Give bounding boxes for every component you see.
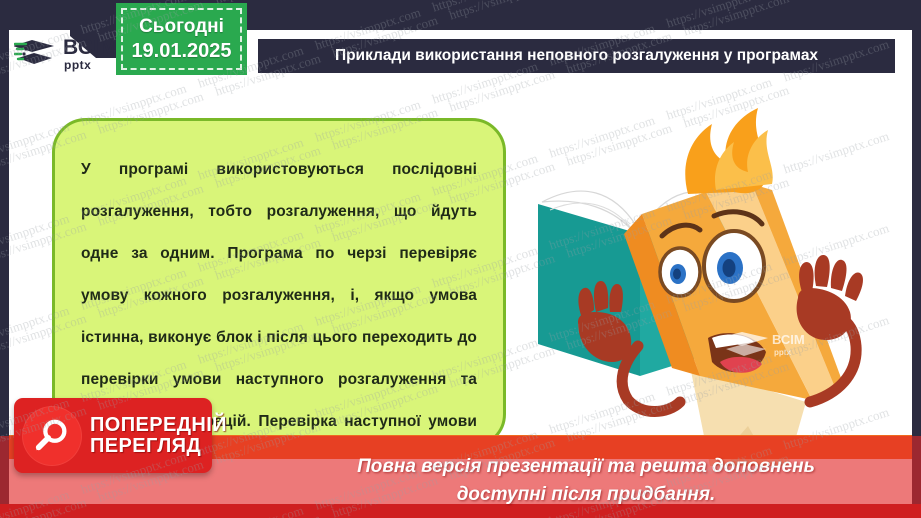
preview-badge-line1: ПОПЕРЕДНІЙ [90, 415, 227, 435]
purchase-notice: Повна версія презентації та решта доповн… [268, 453, 904, 509]
purchase-notice-line2: доступні після придбання. [268, 481, 904, 509]
brand-logo: ВСІМ pptx [14, 30, 126, 78]
purchase-notice-line1: Повна версія презентації та решта доповн… [268, 453, 904, 481]
graduation-cap-icon [14, 37, 58, 71]
preview-badge[interactable]: ПОПЕРЕДНІЙ ПЕРЕГЛЯД [14, 398, 212, 473]
logo-title: ВСІМ [63, 37, 118, 58]
date-badge: Сьогодні 19.01.2025 [116, 3, 247, 75]
preview-badge-line2: ПЕРЕГЛЯД [90, 436, 227, 456]
magnifier-icon [22, 406, 82, 466]
slide-title-bar: Приклади використання неповного розгалуж… [258, 39, 895, 73]
date-badge-value: 19.01.2025 [131, 40, 231, 63]
date-badge-label: Сьогодні [139, 16, 224, 38]
page-title: Приклади використання неповного розгалуж… [335, 47, 818, 65]
logo-subtitle: pptx [64, 59, 118, 71]
slide-root: ВСІМ pptx Сьогодні 19.01.2025 Приклади в… [0, 0, 921, 518]
